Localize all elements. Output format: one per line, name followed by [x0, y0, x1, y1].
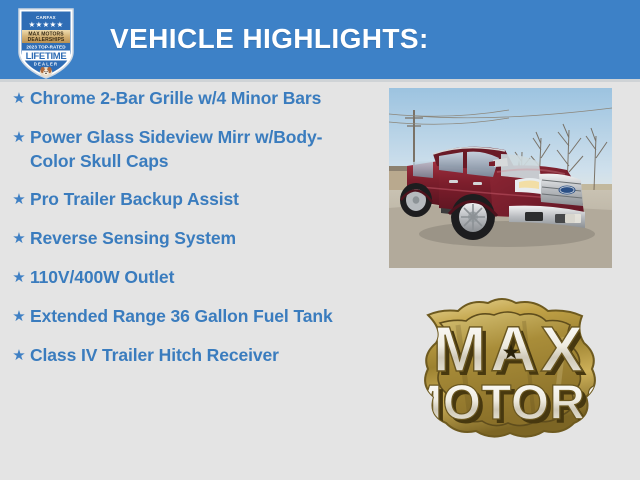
star-bullet-icon: ★ [8, 265, 30, 290]
list-item-label: 110V/400W Outlet [30, 265, 372, 289]
star-bullet-icon: ★ [8, 187, 30, 212]
svg-text:MOTORS: MOTORS [401, 376, 618, 430]
star-bullet-icon: ★ [8, 304, 30, 329]
list-item: ★ 110V/400W Outlet [0, 265, 372, 290]
list-item-label: Chrome 2-Bar Grille w/4 Minor Bars [30, 86, 372, 110]
list-item: ★ Pro Trailer Backup Assist [0, 187, 372, 212]
list-item: ★ Extended Range 36 Gallon Fuel Tank [0, 304, 372, 329]
list-item-label: Power Glass Sideview Mirr w/Body-Color S… [30, 125, 372, 173]
svg-text:DEALERSHIPS: DEALERSHIPS [28, 37, 65, 43]
star-bullet-icon: ★ [8, 86, 30, 111]
list-item-label: Pro Trailer Backup Assist [30, 187, 372, 211]
svg-text:★: ★ [502, 341, 521, 364]
star-bullet-icon: ★ [8, 226, 30, 251]
vehicle-highlights-list: ★ Chrome 2-Bar Grille w/4 Minor Bars ★ P… [0, 86, 372, 382]
svg-text:DEALER: DEALER [34, 62, 58, 67]
list-item-label: Reverse Sensing System [30, 226, 372, 250]
svg-text:★★★★★: ★★★★★ [28, 20, 63, 29]
svg-text:2023 TOP-RATED: 2023 TOP-RATED [26, 45, 66, 50]
list-item: ★ Reverse Sensing System [0, 226, 372, 251]
max-motors-logo[interactable]: MAX MAX ★ MOTORS MOTORS [398, 297, 620, 440]
list-item-label: Class IV Trailer Hitch Receiver [30, 343, 372, 367]
star-bullet-icon: ★ [8, 343, 30, 368]
list-item: ★ Power Glass Sideview Mirr w/Body-Color… [0, 125, 372, 173]
star-bullet-icon: ★ [8, 125, 30, 150]
list-item: ★ Class IV Trailer Hitch Receiver [0, 343, 372, 368]
list-item: ★ Chrome 2-Bar Grille w/4 Minor Bars [0, 86, 372, 111]
vehicle-photo[interactable] [389, 88, 612, 268]
carfax-badge: CARFAX ★★★★★ MAX MOTORS DEALERSHIPS 2023… [17, 6, 75, 80]
header-divider [0, 79, 640, 82]
list-item-label: Extended Range 36 Gallon Fuel Tank [30, 304, 372, 328]
svg-text:LIFETIME: LIFETIME [26, 51, 67, 62]
page-title: VEHICLE HIGHLIGHTS: [110, 23, 429, 55]
